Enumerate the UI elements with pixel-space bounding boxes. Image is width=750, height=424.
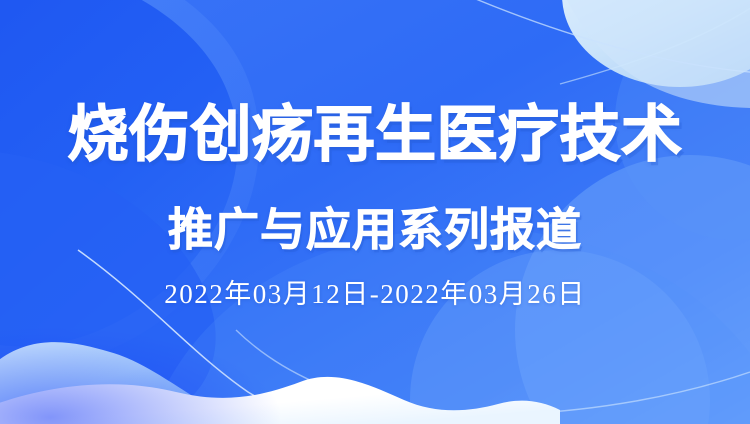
banner-date-range: 2022年03月12日-2022年03月26日 (0, 278, 750, 310)
banner-subtitle: 推广与应用系列报道 (0, 203, 750, 257)
banner-content: 烧伤创疡再生医疗技术 推广与应用系列报道 2022年03月12日-2022年03… (0, 0, 750, 424)
banner-title: 烧伤创疡再生医疗技术 (0, 99, 750, 169)
promo-banner: 烧伤创疡再生医疗技术 推广与应用系列报道 2022年03月12日-2022年03… (0, 0, 750, 424)
